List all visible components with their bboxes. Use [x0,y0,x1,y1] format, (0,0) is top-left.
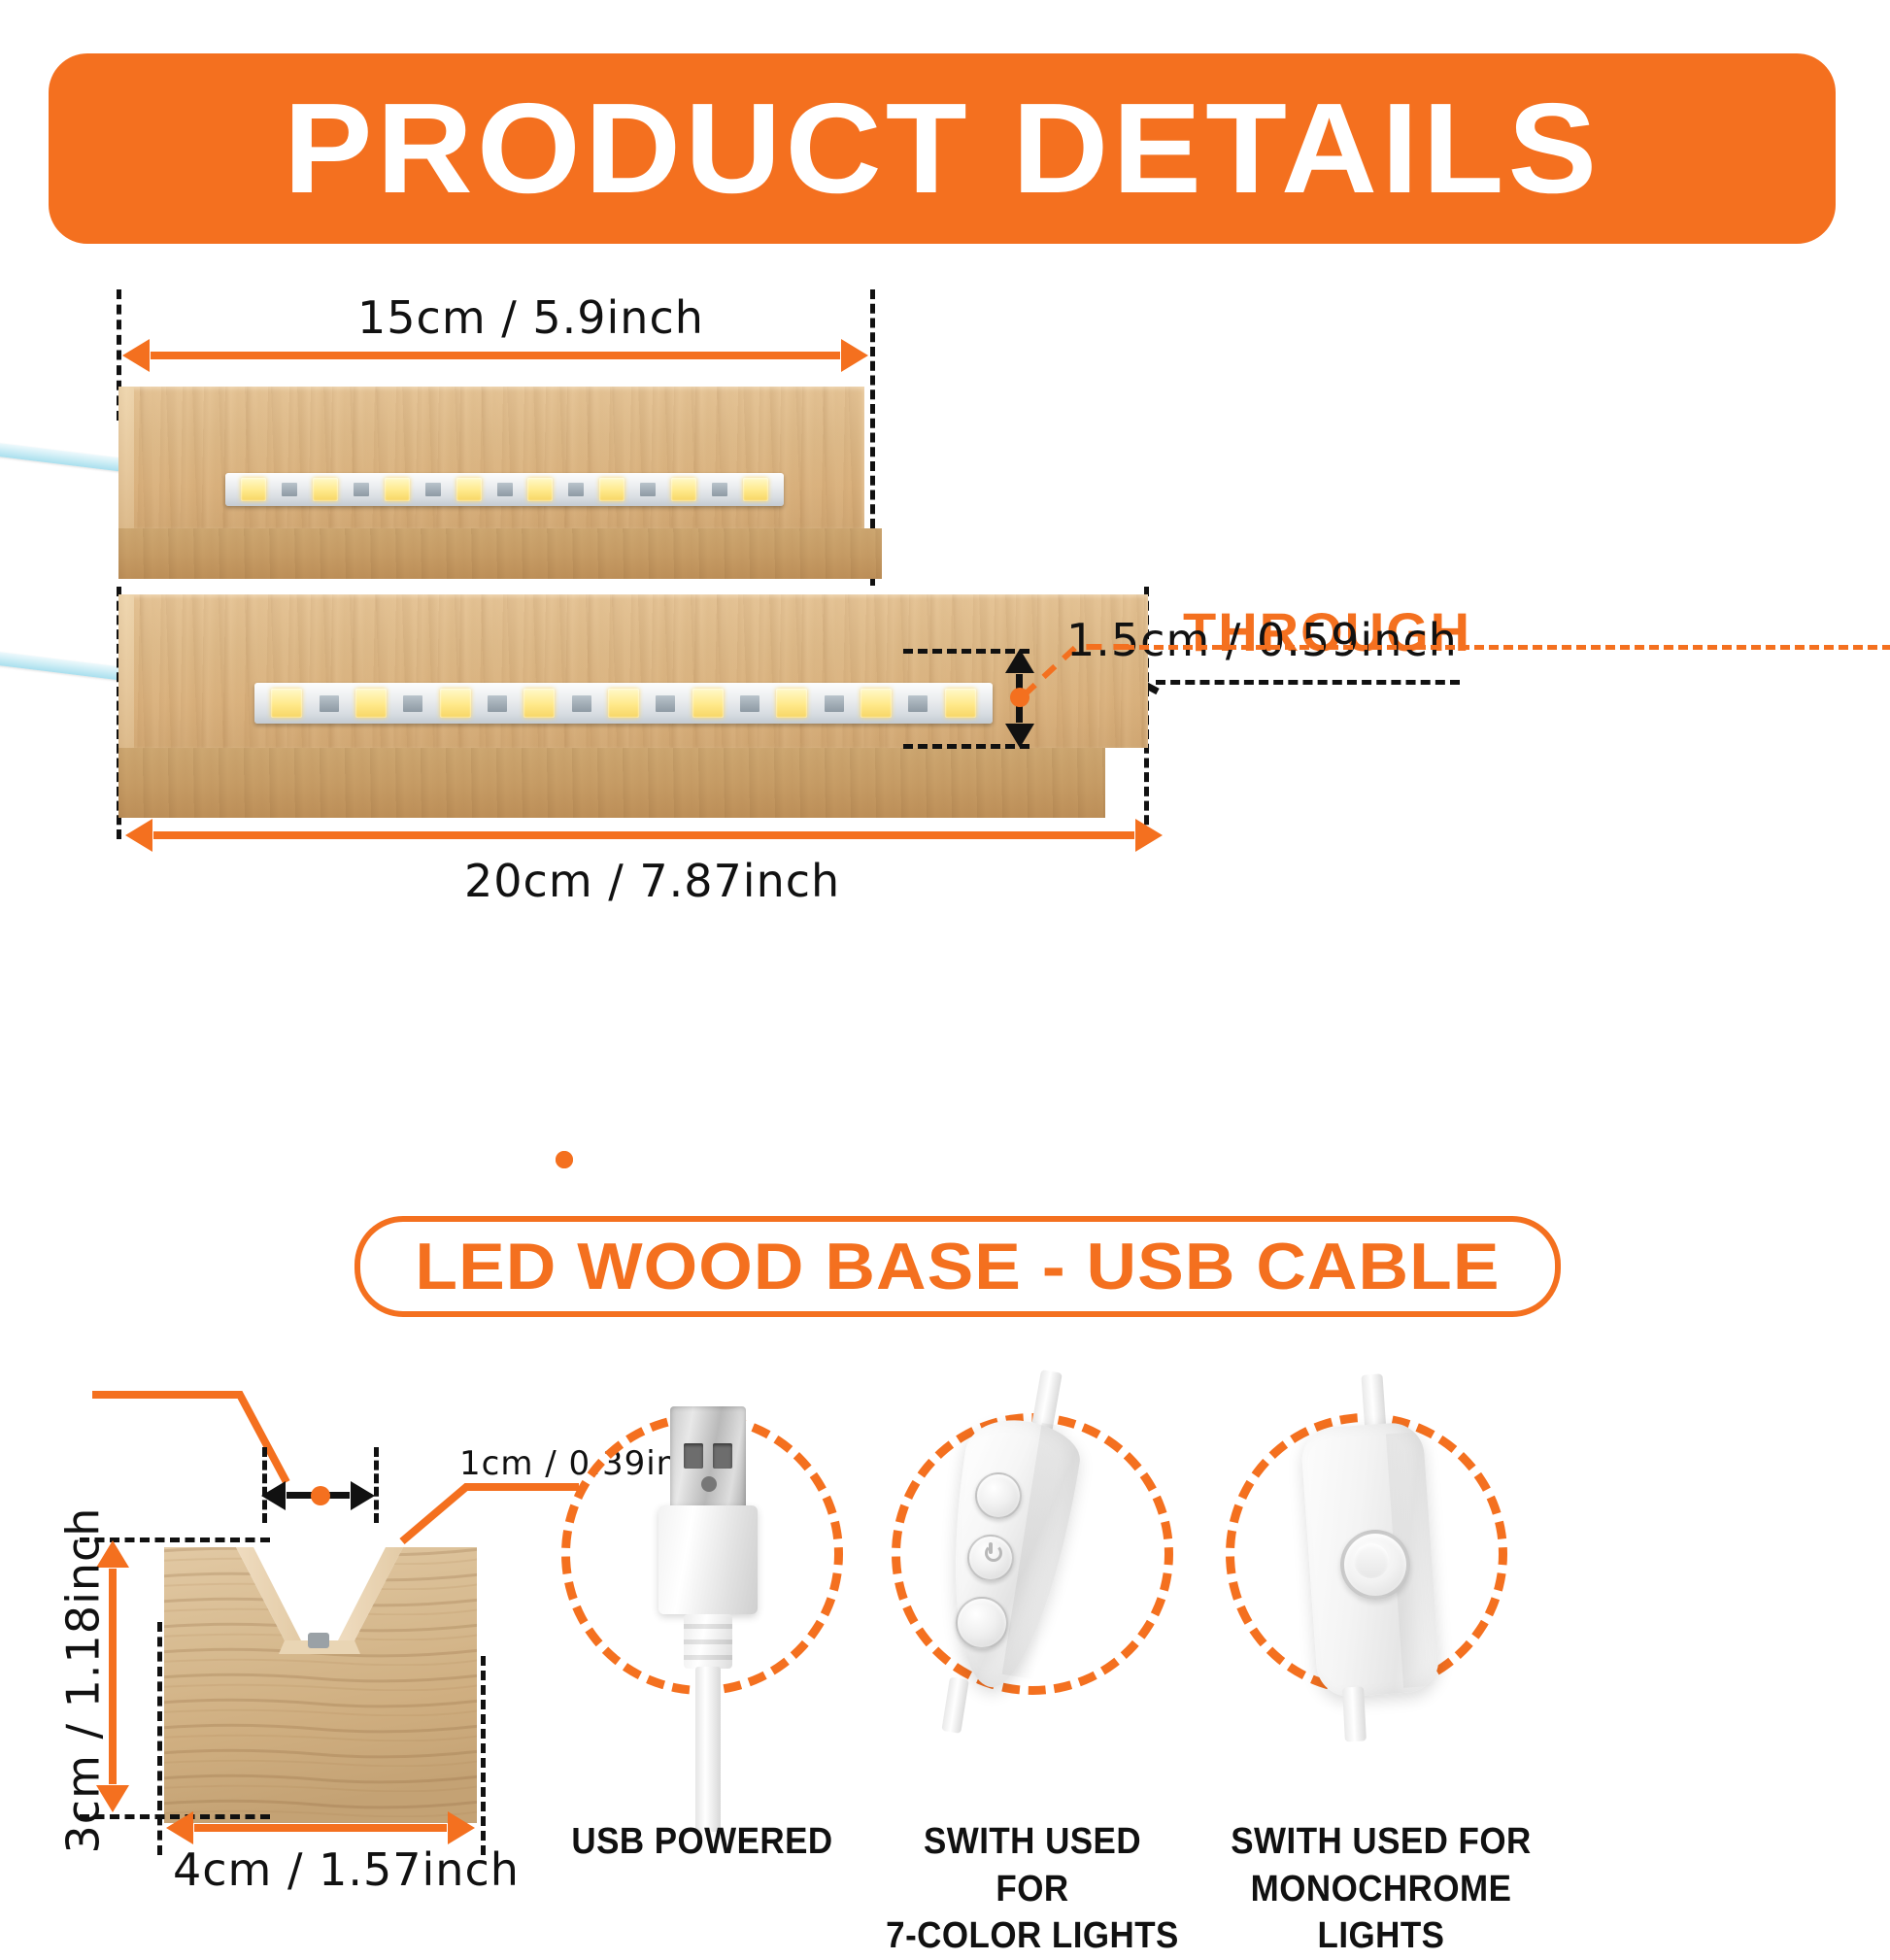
led-strip-bottom [254,683,993,724]
feature-caption-monochrome: SWITH USED FOR MONOCHROME LIGHTS [1202,1818,1560,1960]
led-chip [313,478,338,501]
led-strip-top [225,473,784,506]
led-resistor [568,483,584,496]
wood-base-top-face [118,387,864,528]
wood-cross-section [160,1539,481,1836]
feature-caption-line: SWITH USED FOR [885,1818,1180,1912]
usb-connector-icon [649,1406,765,1717]
section-title-badge: LED WOOD BASE - USB CABLE [354,1216,1561,1317]
led-chip [527,478,553,501]
switch-rocker-button[interactable] [1340,1530,1410,1600]
cable-top [0,442,136,473]
led-resistor [640,483,656,496]
cable-bottom [0,651,136,682]
feature-caption-seven-color: SWITH USED FOR 7-COLOR LIGHTS [885,1818,1180,1960]
seven-color-switch-icon [932,1379,1156,1729]
wood-base-bottom-front-lip [118,748,1105,818]
led-chip [599,478,624,501]
groove-depth-label: 1.5cm / 0.59inch [1066,614,1458,666]
led-chip [776,689,807,718]
measure-arrow-15cm [151,352,840,359]
led-chip [271,689,302,718]
spacer-unused [556,1151,573,1168]
bottom-base-width-label: 20cm / 7.87inch [464,855,840,907]
led-resistor [354,483,369,496]
header-banner: PRODUCT DETAILS [49,53,1836,244]
led-chip [671,478,696,501]
switch-button-middle[interactable] [967,1535,1014,1581]
switch-button-bottom[interactable] [956,1597,1008,1649]
led-resistor [656,695,675,712]
led-chip [385,478,410,501]
led-resistor [282,483,297,496]
cross-section-height-label-wrap: 3cm / 1.18inch [0,1603,199,1758]
cross-section-width-label: 4cm / 1.57inch [173,1843,520,1896]
led-chip [241,478,266,501]
wood-base-bottom-left-edge [118,594,134,748]
led-resistor [320,695,339,712]
led-chip [355,689,387,718]
section-title-text: LED WOOD BASE - USB CABLE [415,1229,1500,1304]
led-chip [692,689,724,718]
led-resistor [908,695,928,712]
led-resistor [497,483,513,496]
feature-caption-line: SWITH USED FOR [1202,1818,1560,1866]
led-chip [861,689,892,718]
feature-caption-line: MONOCHROME LIGHTS [1202,1866,1560,1960]
led-resistor [572,695,591,712]
led-chip [456,478,482,501]
groove-width-marker-dot [311,1486,330,1505]
led-chip [523,689,555,718]
led-chip [945,689,976,718]
wood-base-top-left-edge [118,387,134,528]
cross-section-height-label: 3cm / 1.18inch [56,1507,109,1854]
led-resistor [712,483,727,496]
measure-arrow-20cm [153,831,1134,839]
led-resistor [488,695,507,712]
through-underline [1156,680,1460,685]
switch-button-top[interactable] [975,1472,1022,1519]
groove-depth-dash-right [1125,645,1890,650]
monochrome-switch-icon [1272,1374,1496,1734]
feature-caption-usb: USB POWERED [559,1818,845,1866]
led-resistor [740,695,759,712]
wood-base-bottom-face [118,594,1148,748]
led-chip [440,689,471,718]
feature-caption-line: 7-COLOR LIGHTS [885,1912,1180,1960]
feature-caption-line: USB POWERED [559,1818,845,1866]
led-resistor [425,483,441,496]
led-chip [608,689,639,718]
top-base-width-label: 15cm / 5.9inch [357,291,704,344]
measure-arrow-4cm [194,1824,447,1832]
page-title: PRODUCT DETAILS [284,84,1601,213]
led-resistor [403,695,422,712]
wood-base-top-front-lip [118,528,882,579]
led-resistor [825,695,844,712]
cross-section-guide-right-v [481,1656,486,1855]
led-chip [743,478,768,501]
